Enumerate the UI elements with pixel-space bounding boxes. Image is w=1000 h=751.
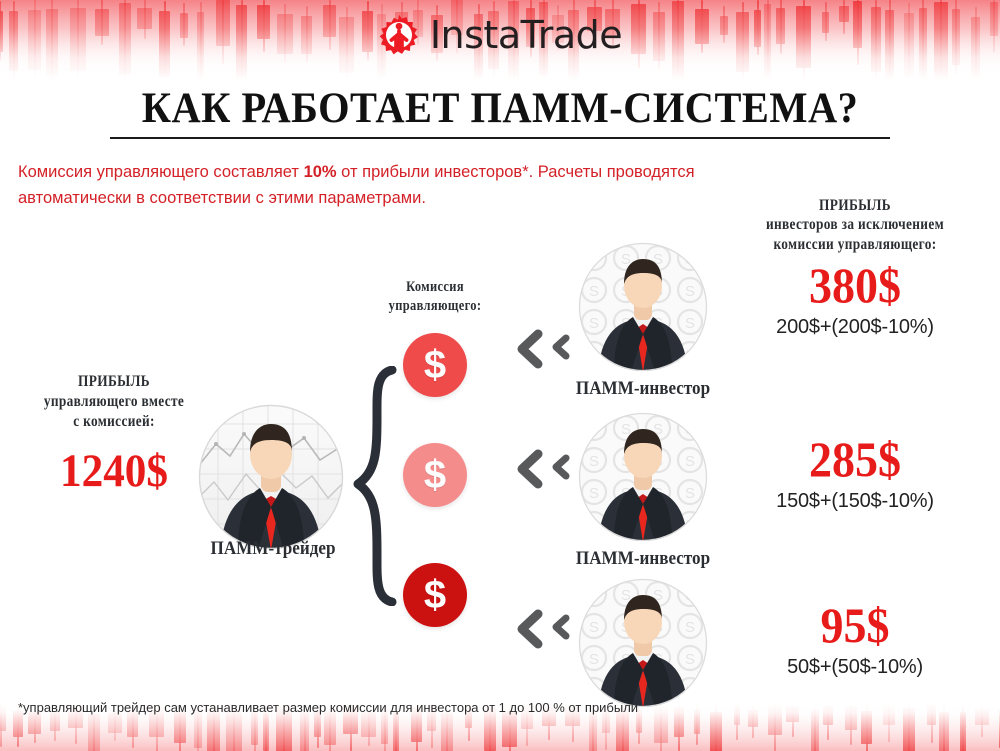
investor-amount-2: 285$: [727, 434, 983, 484]
double-chevron-left-icon-3: [512, 608, 574, 650]
investor-amount-1: 380$: [727, 260, 983, 310]
intro-highlight: 10%: [304, 163, 337, 181]
investor-heading-line2: инвесторов за исключением: [735, 215, 974, 234]
gear-person-icon: [378, 14, 420, 56]
infographic-page: InstaTrade КАК РАБОТАЕТ ПАММ-СИСТЕМА? Ко…: [0, 0, 1000, 751]
trader-label: ПАММ-трейдер: [188, 538, 359, 560]
intro-paragraph: Комиссия управляющего составляет 10% от …: [18, 160, 698, 211]
commission-coin-3: $: [403, 563, 467, 627]
commission-coin-1: $: [403, 333, 467, 397]
trader-heading-line3: с комиссией:: [23, 412, 205, 432]
commission-coin-2: $: [403, 443, 467, 507]
double-chevron-left-icon-1: [512, 328, 574, 370]
businessman-avatar-coins-bg-icon: S: [578, 242, 708, 372]
investor-result-3: 95$ 50$+(50$-10%): [716, 600, 994, 679]
trader-amount: 1240$: [16, 448, 211, 495]
double-chevron-left-icon-2: [512, 448, 574, 490]
trader-heading-line1: ПРИБЫЛЬ: [23, 372, 205, 392]
investor-label-2: ПАММ-инвестор: [558, 548, 729, 570]
intro-text-part1: Комиссия управляющего составляет: [18, 163, 304, 181]
investor-formula-1: 200$+(200$-10%): [716, 316, 994, 339]
investor-heading-line1: ПРИБЫЛЬ: [735, 196, 974, 215]
investor-avatar-3: S: [578, 578, 708, 708]
investor-formula-3: 50$+(50$-10%): [716, 656, 994, 679]
investor-avatar-1: S: [578, 242, 708, 372]
investor-amount-3: 95$: [727, 600, 983, 650]
commission-title-line2: управляющего:: [372, 297, 498, 316]
businessman-avatar-coins-bg-icon: S: [578, 412, 708, 542]
coin-dollar-symbol: $: [424, 345, 446, 385]
investor-label-1: ПАММ-инвестор: [558, 378, 729, 400]
title-divider: [110, 137, 890, 139]
businessman-avatar-coins-bg-icon: S: [578, 578, 708, 708]
coin-dollar-symbol: $: [424, 575, 446, 615]
trader-heading-line2: управляющего вместе: [23, 392, 205, 412]
brand-name: InstaTrade: [430, 16, 622, 54]
commission-title-line1: Комиссия: [372, 278, 498, 297]
page-title: КАК РАБОТАЕТ ПАММ-СИСТЕМА?: [30, 84, 970, 133]
coin-dollar-symbol: $: [424, 455, 446, 495]
footnote-text: *управляющий трейдер сам устанавливает р…: [18, 700, 638, 715]
brand-logo: InstaTrade: [0, 14, 1000, 56]
curly-brace-icon: [352, 366, 398, 606]
commission-title: Комиссия управляющего:: [372, 278, 498, 316]
investor-result-2: 285$ 150$+(150$-10%): [716, 434, 994, 513]
investor-result-1: ПРИБЫЛЬ инвесторов за исключением комисс…: [716, 196, 994, 339]
investor-heading-line3: комиссии управляющего:: [735, 235, 974, 254]
investor-formula-2: 150$+(150$-10%): [716, 490, 994, 513]
trader-profit-block: ПРИБЫЛЬ управляющего вместе с комиссией:…: [8, 372, 220, 495]
investor-avatar-2: S: [578, 412, 708, 542]
